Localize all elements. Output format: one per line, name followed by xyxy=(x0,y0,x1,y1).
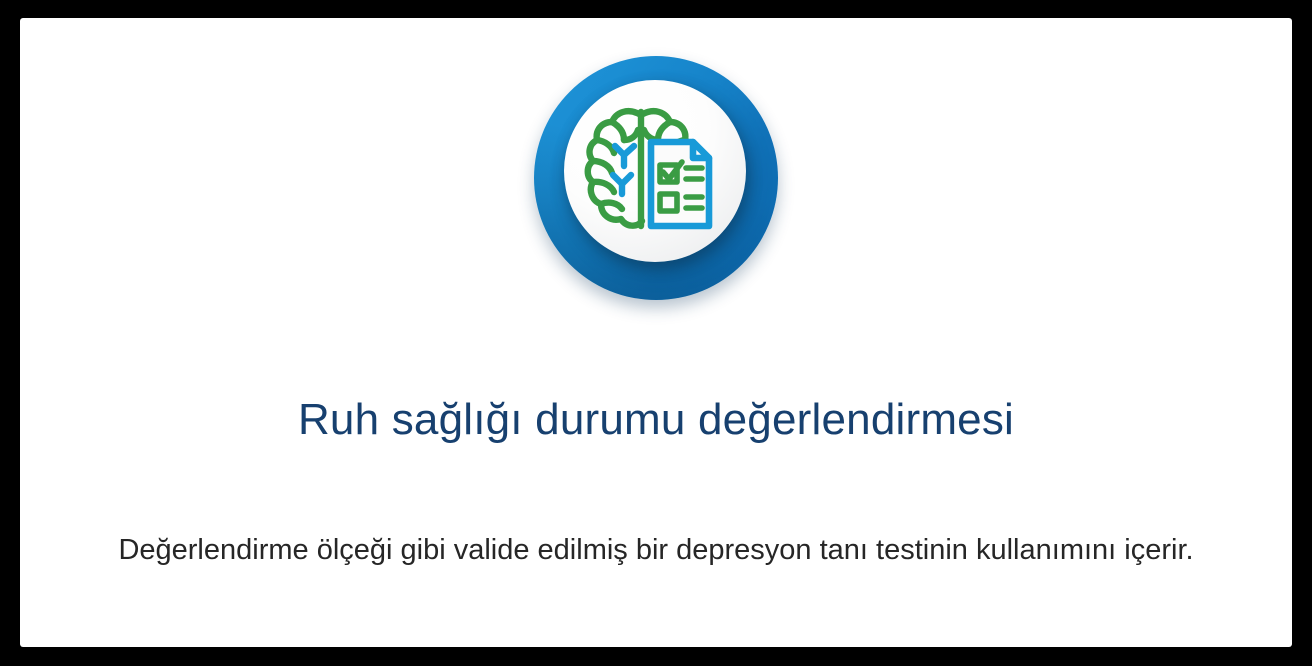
slide-card: Ruh sağlığı durumu değerlendirmesi Değer… xyxy=(20,18,1292,647)
page-description: Değerlendirme ölçeği gibi valide edilmiş… xyxy=(108,530,1204,570)
brain-and-checklist-badge xyxy=(532,56,780,304)
badge-container xyxy=(20,56,1292,376)
page-title: Ruh sağlığı durumu değerlendirmesi xyxy=(20,392,1292,448)
brain-and-checklist-icon xyxy=(564,80,746,262)
slide-frame: Ruh sağlığı durumu değerlendirmesi Değer… xyxy=(0,0,1312,666)
